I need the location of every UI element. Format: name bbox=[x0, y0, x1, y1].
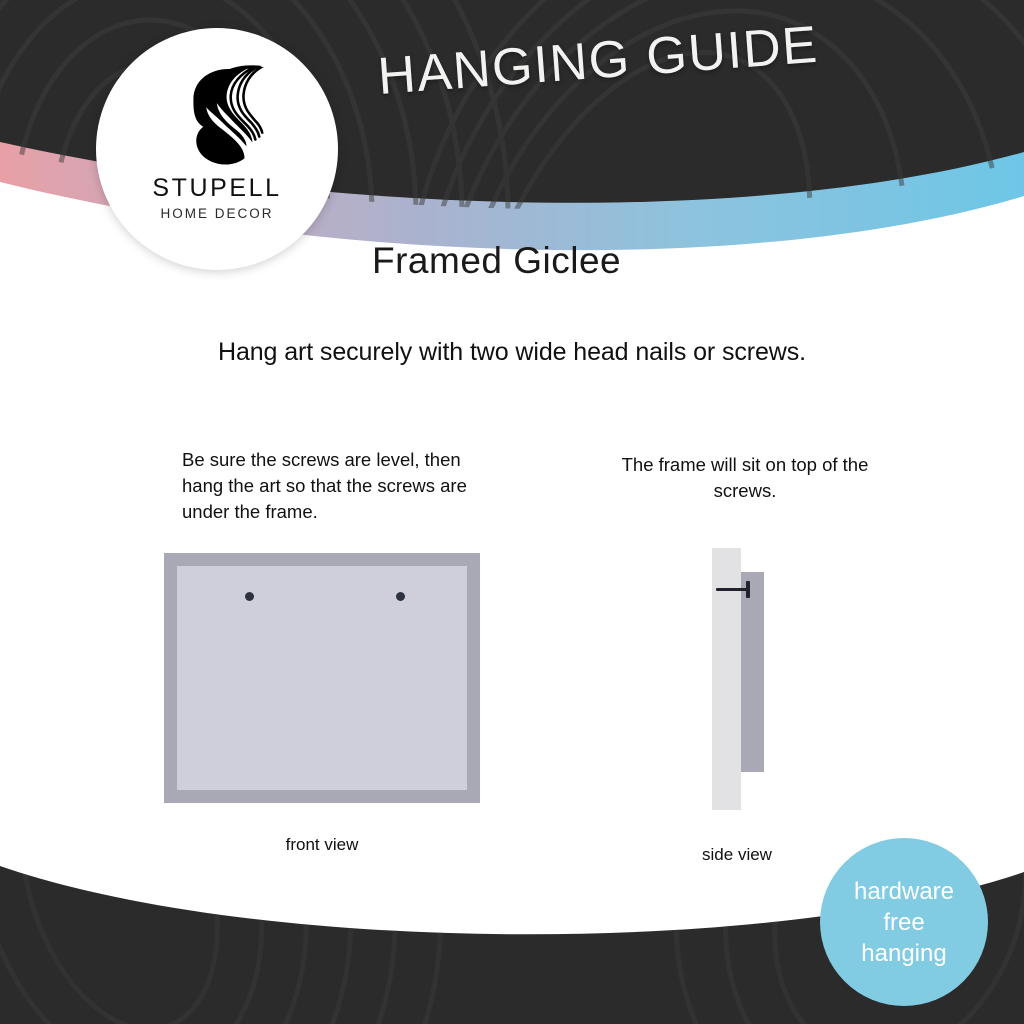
nail-shaft-icon bbox=[716, 588, 750, 591]
badge-line-2: free bbox=[883, 907, 924, 938]
brand-tagline: HOME DECOR bbox=[160, 206, 273, 221]
front-view-caption: Be sure the screws are level, then hang … bbox=[182, 447, 472, 525]
screw-dot-right-icon bbox=[396, 592, 405, 601]
main-instruction-text: Hang art securely with two wide head nai… bbox=[0, 338, 1024, 367]
page-title: HANGING GUIDE bbox=[376, 15, 821, 107]
side-view-caption: The frame will sit on top of the screws. bbox=[600, 452, 890, 504]
front-view-frame-inner bbox=[177, 566, 467, 790]
badge-line-3: hanging bbox=[861, 938, 946, 969]
hanging-guide-page: HANGING GUIDE STUPELL HOME DECOR Framed … bbox=[0, 0, 1024, 1024]
badge-line-1: hardware bbox=[854, 876, 954, 907]
nail-head-icon bbox=[746, 581, 750, 598]
side-view-frame bbox=[741, 572, 764, 772]
screw-dot-left-icon bbox=[245, 592, 254, 601]
product-type-heading: Framed Giclee bbox=[372, 240, 621, 282]
stupell-swoosh-logo-icon bbox=[158, 54, 276, 172]
brand-logo-badge: STUPELL HOME DECOR bbox=[96, 28, 338, 270]
front-view-label: front view bbox=[164, 835, 480, 855]
brand-name: STUPELL bbox=[152, 174, 281, 203]
front-view-diagram bbox=[164, 553, 480, 803]
side-view-label: side view bbox=[652, 845, 822, 865]
hardware-free-hanging-badge: hardware free hanging bbox=[820, 838, 988, 1006]
